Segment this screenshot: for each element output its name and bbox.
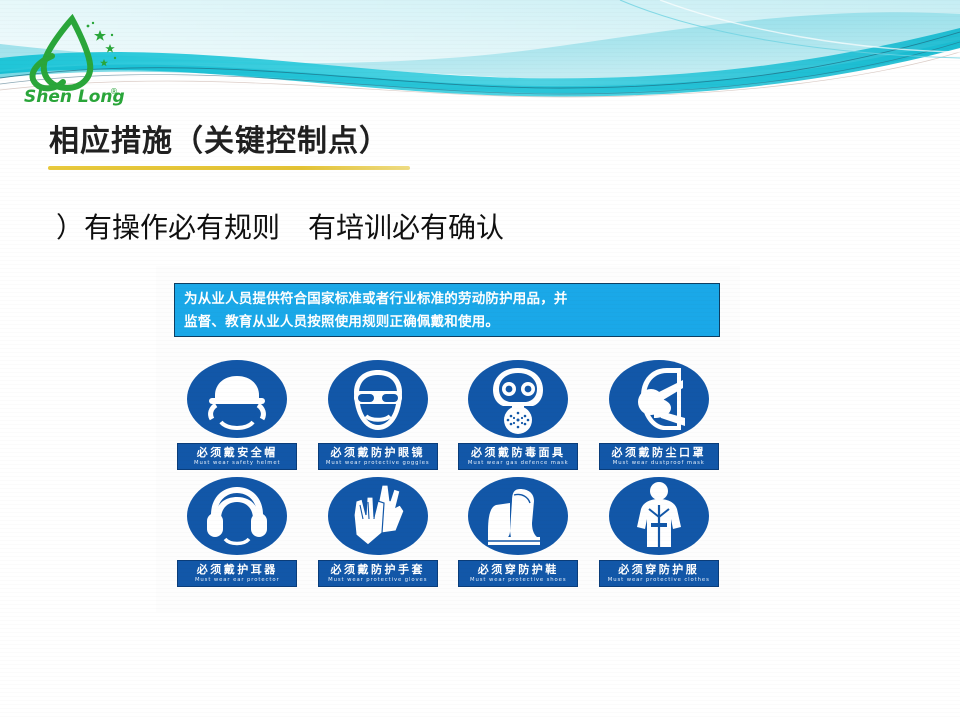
ppe-sign-plate: 必须戴护耳器 Must wear ear protector [177,560,297,587]
ppe-sign-label-en: Must wear protective gloves [319,576,437,584]
ppe-sign: 必须戴安全帽 Must wear safety helmet [170,358,305,473]
title-underline-rule [48,166,410,170]
slide-banner [0,0,960,112]
registered-mark: ® [110,87,118,96]
ppe-sign-plate: 必须戴防毒面具 Must wear gas defence mask [458,443,578,470]
ppe-sign: 必须穿防护鞋 Must wear protective shoes [451,475,586,590]
ppe-sign-label-zh: 必须戴防护眼镜 [319,446,437,459]
page-title: 相应措施（关键控制点） [49,116,390,160]
ppe-sign-label-zh: 必须穿防护服 [600,563,718,576]
ppe-sign: 必须戴防护手套 Must wear protective gloves [311,475,446,590]
shen-long-logo: Shen Long ® [22,14,126,106]
ppe-sign-grid: 必须戴安全帽 Must wear safety helmet 必须戴防护眼镜 [170,358,726,590]
ppe-sign: 必须戴防毒面具 Must wear gas defence mask [451,358,586,473]
ppe-sign: 必须穿防护服 Must wear protective clothes [592,475,727,590]
water-drop-leaf-icon [33,19,91,88]
safety-helmet-icon [185,358,289,441]
ppe-sign-label-zh: 必须戴防毒面具 [459,446,577,459]
ppe-sign-plate: 必须戴防尘口罩 Must wear dustproof mask [599,443,719,470]
protective-clothes-icon [607,475,711,558]
ppe-sign: 必须戴防护眼镜 Must wear protective goggles [311,358,446,473]
ear-protector-icon [185,475,289,558]
protective-shoes-icon [466,475,570,558]
notice-line-1: 为从业人员提供符合国家标准或者行业标准的劳动防护用品，并 [184,288,710,311]
ppe-sign-label-zh: 必须戴防尘口罩 [600,446,718,459]
ppe-sign-label-zh: 必须戴防护手套 [319,563,437,576]
ppe-sign-label-en: Must wear gas defence mask [459,459,577,467]
dustproof-mask-icon [607,358,711,441]
protective-goggles-icon [326,358,430,441]
notice-line-2: 监督、教育从业人员按照使用规则正确佩戴和使用。 [184,311,710,334]
ppe-sign-label-zh: 必须穿防护鞋 [459,563,577,576]
gas-defence-mask-icon [466,358,570,441]
ppe-poster-card: 为从业人员提供符合国家标准或者行业标准的劳动防护用品，并 监督、教育从业人员按照… [156,266,740,612]
ppe-notice-banner: 为从业人员提供符合国家标准或者行业标准的劳动防护用品，并 监督、教育从业人员按照… [174,283,720,337]
ppe-sign: 必须戴防尘口罩 Must wear dustproof mask [592,358,727,473]
ppe-sign-label-en: Must wear ear protector [178,576,296,584]
protective-gloves-icon [326,475,430,558]
ppe-sign-label-en: Must wear protective clothes [600,576,718,584]
ppe-sign-label-en: Must wear safety helmet [178,459,296,467]
ppe-sign: 必须戴护耳器 Must wear ear protector [170,475,305,590]
ppe-sign-plate: 必须戴防护手套 Must wear protective gloves [318,560,438,587]
ppe-sign-label-zh: 必须戴护耳器 [178,563,296,576]
ppe-sign-label-en: Must wear dustproof mask [600,459,718,467]
ppe-sign-label-zh: 必须戴安全帽 [178,446,296,459]
ppe-sign-plate: 必须戴安全帽 Must wear safety helmet [177,443,297,470]
ppe-sign-plate: 必须穿防护服 Must wear protective clothes [599,560,719,587]
ppe-sign-plate: 必须穿防护鞋 Must wear protective shoes [458,560,578,587]
ppe-sign-label-en: Must wear protective shoes [459,576,577,584]
ppe-sign-plate: 必须戴防护眼镜 Must wear protective goggles [318,443,438,470]
body-text-line: ）有操作必有规则 有培训必有确认 [56,206,504,246]
ppe-sign-label-en: Must wear protective goggles [319,459,437,467]
